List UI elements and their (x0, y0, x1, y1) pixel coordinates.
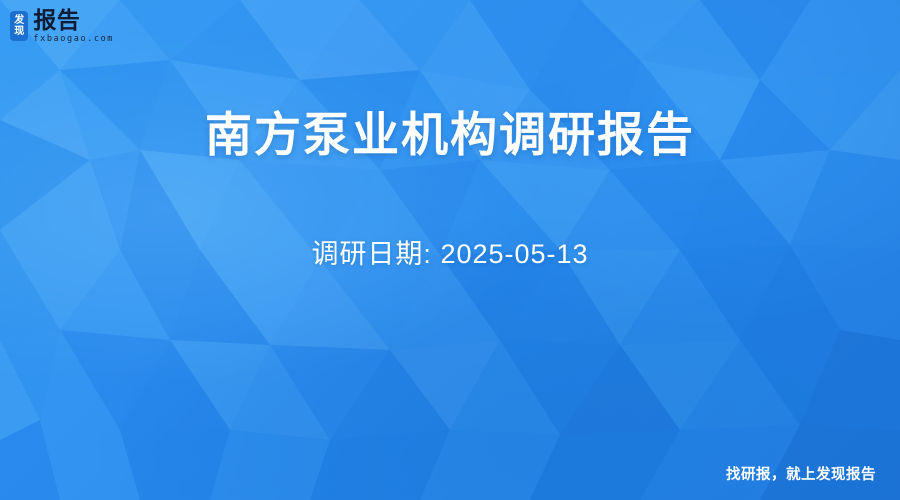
footer-slogan: 找研报，就上发现报告 (726, 463, 876, 484)
survey-date: 调研日期: 2025-05-13 (0, 232, 900, 271)
logo-domain: fxbaogao.com (33, 34, 114, 45)
logo-mark-line1: 发 (14, 15, 24, 26)
logo-wordmark: 报告 (33, 8, 114, 33)
logo-mark-line2: 现 (14, 26, 24, 37)
logo-mark-icon: 发 现 (10, 11, 28, 41)
cover-page: 发 现 报告 fxbaogao.com 南方泵业机构调研报告 调研日期: 202… (0, 0, 900, 500)
logo-text-group: 报告 fxbaogao.com (33, 8, 114, 45)
brand-logo: 发 现 报告 fxbaogao.com (10, 8, 114, 54)
page-title: 南方泵业机构调研报告 (0, 96, 900, 165)
